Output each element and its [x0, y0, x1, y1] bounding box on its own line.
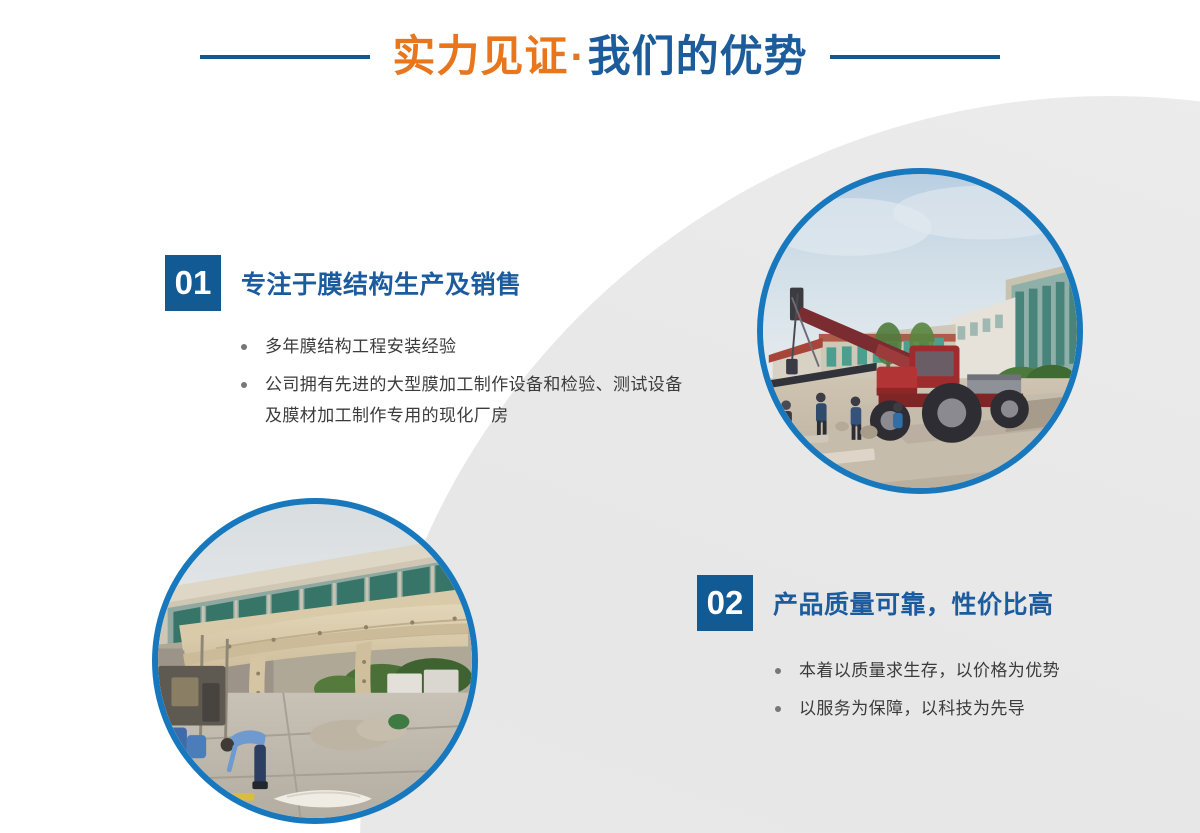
- header-rule-right: [830, 55, 1000, 59]
- feature-02-header: 02 产品质量可靠，性价比高: [697, 575, 1157, 631]
- feature-02-title: 产品质量可靠，性价比高: [773, 585, 1054, 621]
- page-title-separator-dot: ·: [568, 33, 587, 81]
- promo-page: 实力见证·我们的优势: [0, 0, 1200, 833]
- list-item: 公司拥有先进的大型膜加工制作设备和检验、测试设备及膜材加工制作专用的现化厂房: [239, 369, 690, 431]
- page-header: 实力见证·我们的优势: [0, 24, 1200, 90]
- photo-crane-truck-illustration: [763, 174, 1077, 488]
- photo-crane-truck-construction-site: [757, 168, 1083, 494]
- feature-01-number-badge: 01: [165, 255, 221, 311]
- feature-01-bullet-list: 多年膜结构工程安装经验 公司拥有先进的大型膜加工制作设备和检验、测试设备及膜材加…: [239, 331, 695, 431]
- photo-crane-truck-inner: [763, 174, 1077, 488]
- page-title-orange: 实力见证: [392, 33, 568, 81]
- feature-block-01: 01 专注于膜结构生产及销售 多年膜结构工程安装经验 公司拥有先进的大型膜加工制…: [165, 255, 695, 438]
- list-item: 本着以质量求生存，以价格为优势: [773, 655, 1157, 686]
- photo-membrane-canopy-inner: [158, 504, 472, 818]
- page-title-blue: 我们的优势: [588, 33, 808, 81]
- photo-membrane-canopy-structure: [152, 498, 478, 824]
- feature-01-header: 01 专注于膜结构生产及销售: [165, 255, 695, 311]
- feature-02-number-badge: 02: [697, 575, 753, 631]
- photo-membrane-canopy-illustration: [158, 504, 472, 818]
- feature-01-title: 专注于膜结构生产及销售: [241, 265, 522, 301]
- feature-02-bullet-list: 本着以质量求生存，以价格为优势 以服务为保障，以科技为先导: [773, 655, 1157, 724]
- header-rule-left: [200, 55, 370, 59]
- list-item: 多年膜结构工程安装经验: [239, 331, 690, 362]
- feature-block-02: 02 产品质量可靠，性价比高 本着以质量求生存，以价格为优势 以服务为保障，以科…: [697, 575, 1157, 731]
- page-title: 实力见证·我们的优势: [392, 36, 807, 79]
- list-item: 以服务为保障，以科技为先导: [773, 693, 1157, 724]
